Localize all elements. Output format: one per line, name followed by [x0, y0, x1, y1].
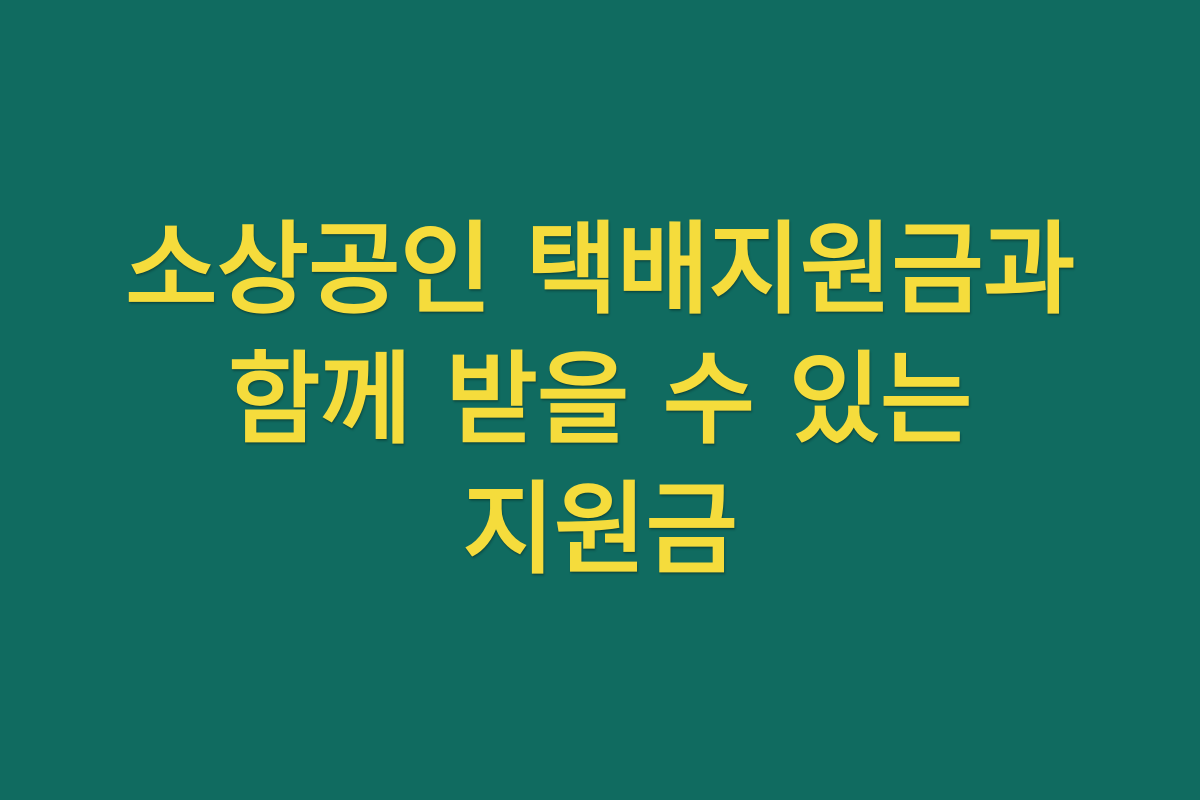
- banner-canvas: 소상공인 택배지원금과 함께 받을 수 있는 지원금: [0, 0, 1200, 800]
- headline-text: 소상공인 택배지원금과 함께 받을 수 있는 지원금: [95, 205, 1105, 595]
